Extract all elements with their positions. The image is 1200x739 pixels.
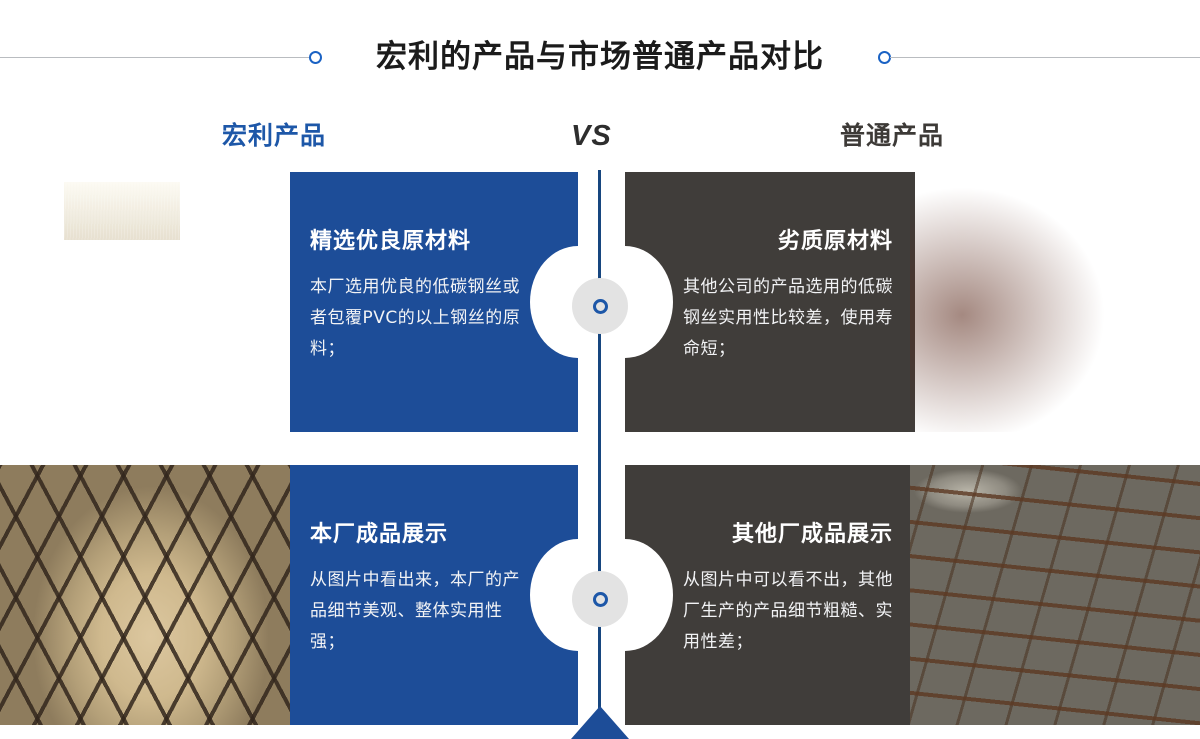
ring-node-icon-2 [593,592,608,607]
image-rusty-wire-coil [910,172,1200,432]
ring-node-icon-1 [593,299,608,314]
image-galvanized-wire-coils [0,172,290,432]
timeline-node-1 [572,278,628,334]
timeline-node-2 [572,571,628,627]
panel-title-theirs-1: 劣质原材料 [778,227,893,257]
panel-ours-2: 本厂成品展示 从图片中看出来，本厂的产品细节美观、整体实用性强； [290,465,578,725]
triangle-up-icon [571,706,629,739]
photo-theirs-2 [910,465,1200,725]
panel-body-ours-1: 本厂选用优良的低碳钢丝或者包覆PVC的以上钢丝的原料； [310,272,525,365]
panel-title-theirs-2: 其他厂成品展示 [732,520,893,550]
panel-ours-1: 精选优良原材料 本厂选用优良的低碳钢丝或者包覆PVC的以上钢丝的原料； [290,172,578,432]
image-gabion-stone-wall [910,465,1200,725]
header-rule-right [890,57,1200,58]
panel-cutout-ours-2 [530,539,578,651]
column-header-vs: VS [571,118,612,154]
panel-cutout-theirs-1 [625,246,673,358]
panel-title-ours-1: 精选优良原材料 [310,227,471,257]
panel-title-ours-2: 本厂成品展示 [310,520,448,550]
panel-cutout-theirs-2 [625,539,673,651]
panel-body-theirs-1: 其他公司的产品选用的低碳钢丝实用性比较差，使用寿命短； [683,272,898,365]
image-gabion-boulder [0,465,290,725]
photo-theirs-1 [910,172,1200,432]
photo-ours-1 [0,172,290,432]
panel-theirs-1: 劣质原材料 其他公司的产品选用的低碳钢丝实用性比较差，使用寿命短； [625,172,915,432]
page-header: 宏利的产品与市场普通产品对比 [0,0,1200,110]
panel-body-ours-2: 从图片中看出来，本厂的产品细节美观、整体实用性强； [310,565,525,658]
column-header-theirs: 普通产品 [840,118,944,154]
panel-cutout-ours-1 [530,246,578,358]
panel-theirs-2: 其他厂成品展示 从图片中可以看不出，其他厂生产的产品细节粗糙、实用性差； [625,465,915,725]
timeline-vertical-line [598,170,601,715]
photo-ours-2 [0,465,290,725]
panel-body-theirs-2: 从图片中可以看不出，其他厂生产的产品细节粗糙、实用性差； [683,565,898,658]
column-header-ours: 宏利产品 [222,118,326,154]
